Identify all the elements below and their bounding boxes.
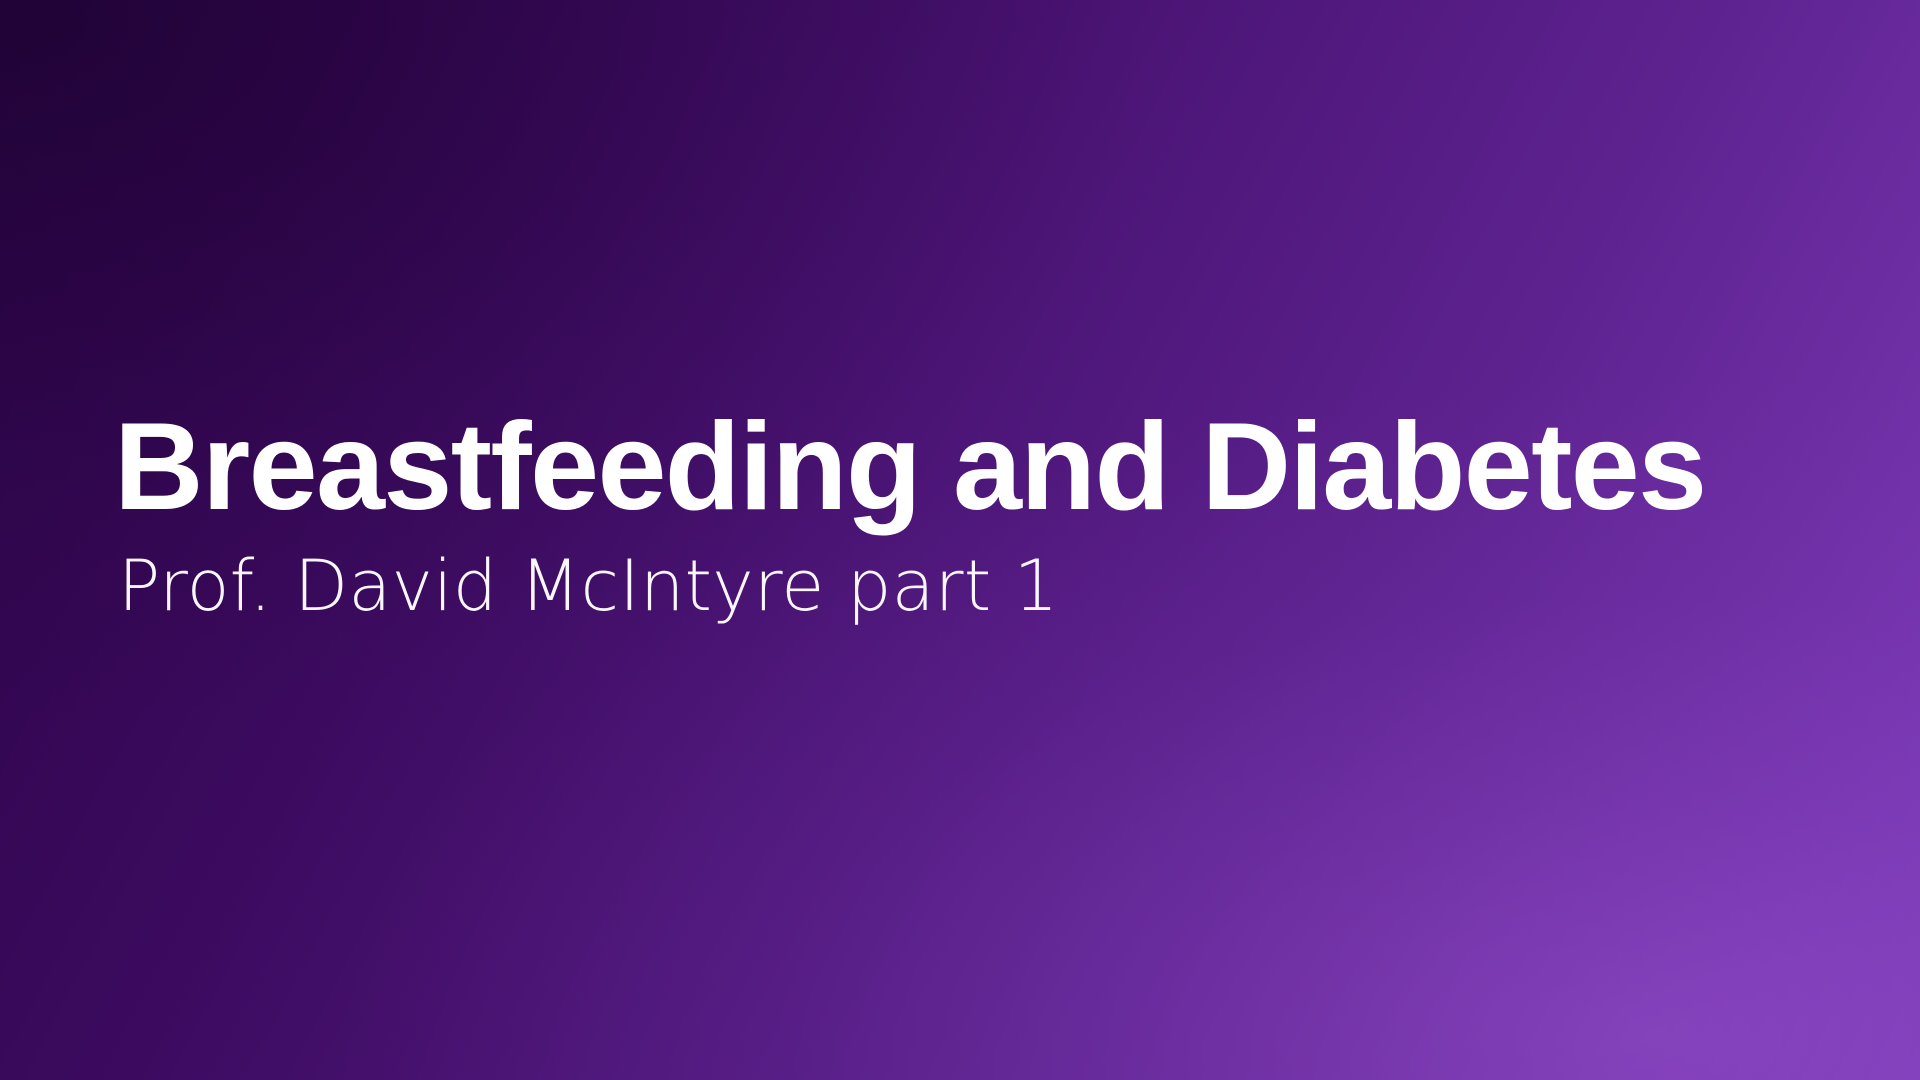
- slide-text-block: Breastfeeding and Diabetes Prof. David M…: [114, 404, 1814, 625]
- title-slide: Breastfeeding and Diabetes Prof. David M…: [0, 0, 1920, 1080]
- slide-title: Breastfeeding and Diabetes: [114, 404, 1814, 532]
- slide-subtitle: Prof. David McIntyre part 1: [118, 548, 1814, 625]
